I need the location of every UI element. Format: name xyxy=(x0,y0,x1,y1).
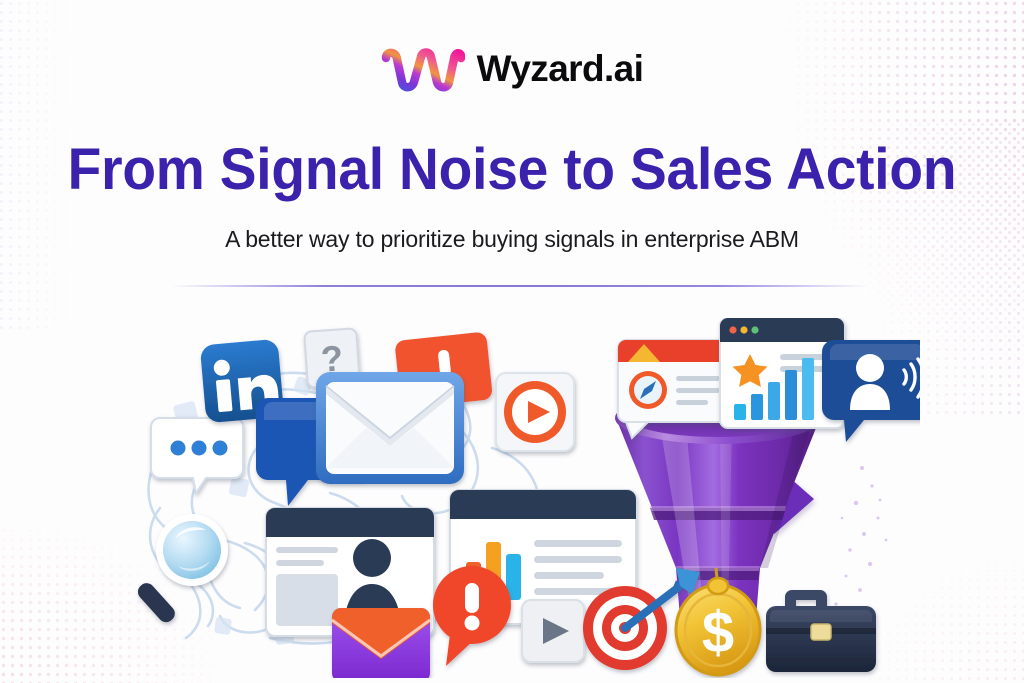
video-play-circle-icon xyxy=(496,373,574,451)
section-divider xyxy=(170,285,870,287)
purple-envelope-icon xyxy=(332,608,430,678)
email-envelope-icon xyxy=(316,372,464,484)
chat-dots-bubble-icon xyxy=(151,418,243,493)
play-button-square-icon xyxy=(522,600,584,662)
brand-logo[interactable]: Wyzard.ai xyxy=(0,40,1024,96)
funnel-spray-specks xyxy=(824,466,887,620)
brand-wordmark: Wyzard.ai xyxy=(477,50,644,87)
page-subtitle: A better way to prioritize buying signal… xyxy=(0,226,1024,253)
briefcase-icon xyxy=(766,590,876,672)
illustration-canvas: ? xyxy=(120,318,920,678)
svg-text:$: $ xyxy=(702,600,734,665)
poster-canvas: Wyzard.ai From Signal Noise to Sales Act… xyxy=(0,0,1024,683)
exclamation-bubble-icon xyxy=(433,566,511,666)
hero-illustration: ? xyxy=(120,318,920,678)
wyzard-wave-logo-icon xyxy=(381,44,465,92)
page-title: From Signal Noise to Sales Action xyxy=(26,140,999,199)
